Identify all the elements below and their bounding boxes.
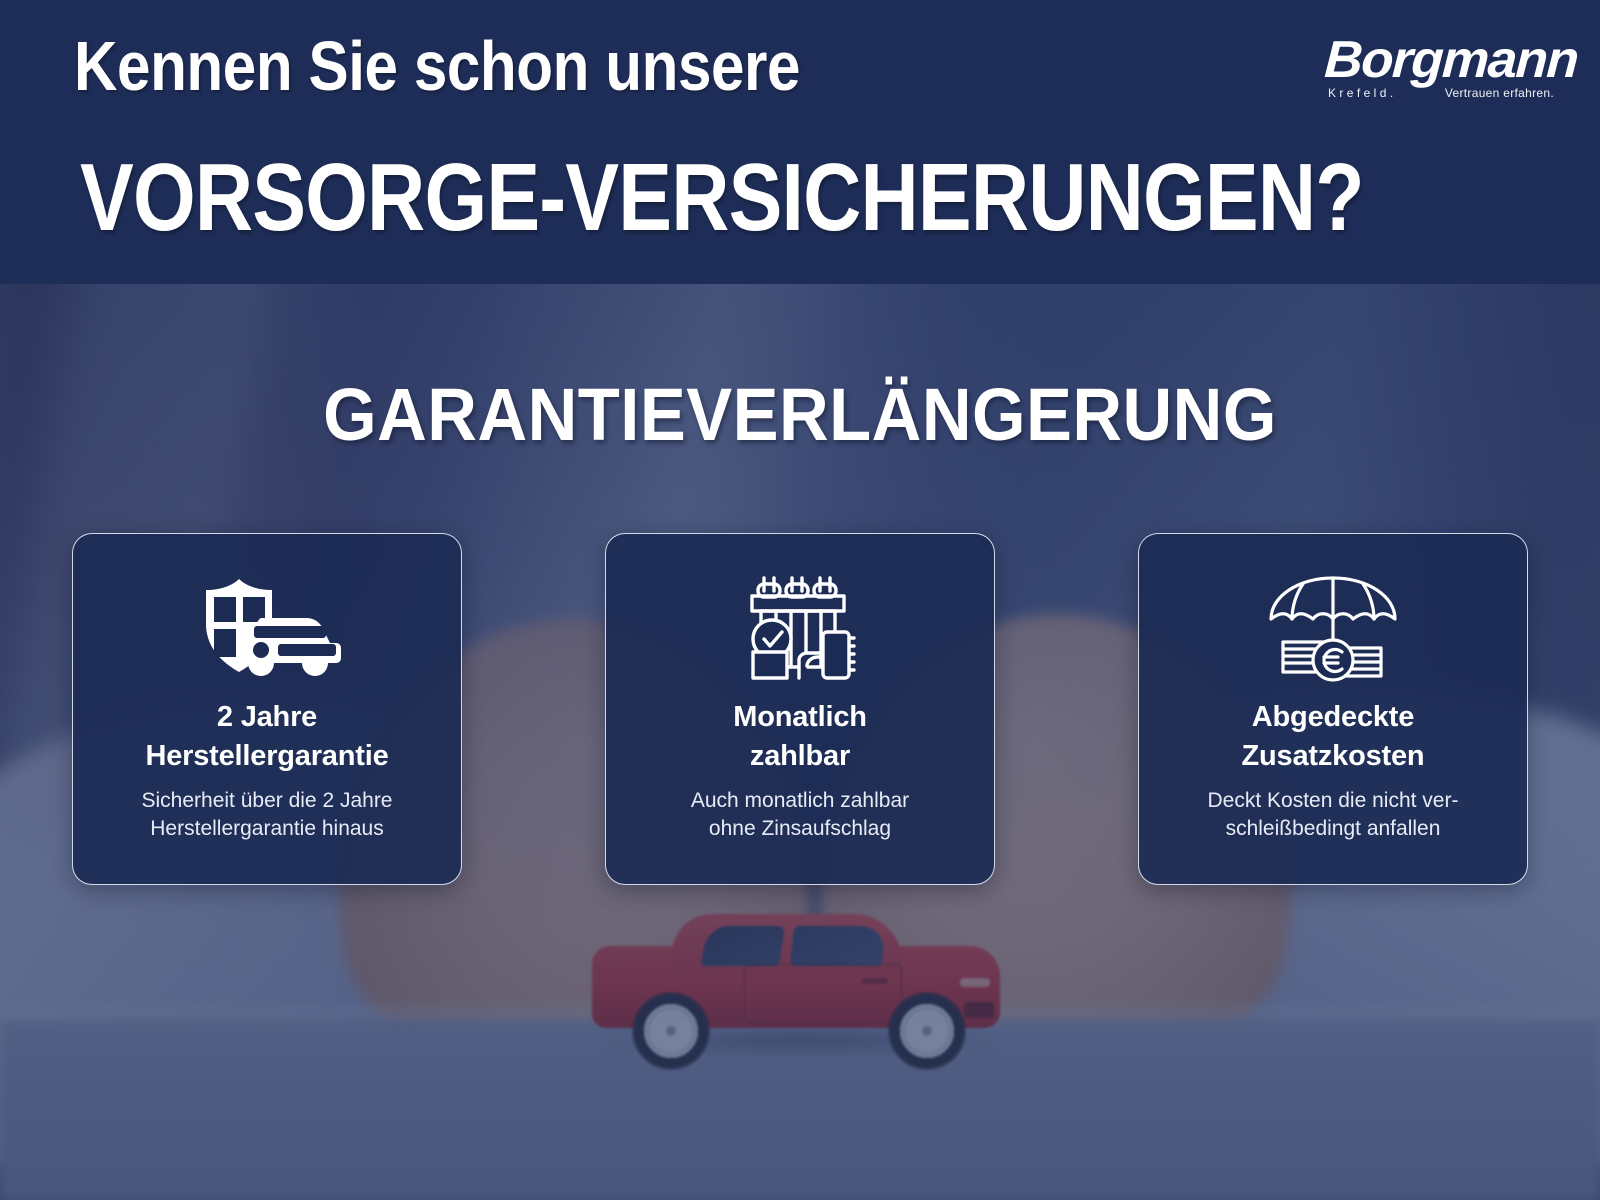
- logo-wordmark: Borgmann: [1323, 34, 1579, 86]
- card-title: Monatlich zahlbar: [733, 698, 867, 776]
- logo-city: Krefeld.: [1328, 86, 1397, 100]
- feature-card-extra-costs[interactable]: Abgedeckte Zusatzkosten Deckt Kosten die…: [1138, 533, 1528, 885]
- umbrella-euro-coins-icon: [1265, 572, 1401, 684]
- card-title: 2 Jahre Herstellergarantie: [145, 698, 388, 776]
- section-title: GARANTIEVERLÄNGERUNG: [56, 378, 1544, 452]
- calendar-check-payment-icon: [739, 572, 861, 684]
- logo-claim: Vertrauen erfahren.: [1445, 86, 1554, 100]
- card-description: Sicherheit über die 2 Jahre Herstellerga…: [142, 787, 393, 843]
- card-desc-line-1: Sicherheit über die 2 Jahre: [142, 789, 393, 812]
- feature-card-manufacturer-warranty[interactable]: 2 Jahre Herstellergarantie Sicherheit üb…: [72, 533, 462, 885]
- card-title-line-1: Monatlich: [733, 701, 867, 733]
- card-description: Auch monatlich zahlbar ohne Zinsaufschla…: [691, 787, 909, 843]
- borgmann-logo[interactable]: Borgmann Krefeld. Vertrauen erfahren.: [1326, 34, 1556, 108]
- feature-card-monthly-payment[interactable]: Monatlich zahlbar Auch monatlich zahlbar…: [605, 533, 995, 885]
- card-title-line-2: Zusatzkosten: [1242, 740, 1425, 772]
- card-desc-line-2: ohne Zinsaufschlag: [709, 817, 891, 840]
- card-title: Abgedeckte Zusatzkosten: [1242, 698, 1425, 776]
- card-desc-line-2: Herstellergarantie hinaus: [150, 817, 383, 840]
- card-desc-line-1: Auch monatlich zahlbar: [691, 789, 909, 812]
- shield-car-icon: [192, 572, 342, 684]
- card-description: Deckt Kosten die nicht ver- schleißbedin…: [1208, 787, 1459, 843]
- card-title-line-2: zahlbar: [750, 740, 850, 772]
- card-desc-line-2: schleißbedingt anfallen: [1226, 817, 1441, 840]
- feature-card-list: 2 Jahre Herstellergarantie Sicherheit üb…: [72, 533, 1528, 885]
- headline-line-1: Kennen Sie schon unsere: [74, 31, 800, 101]
- logo-subline: Krefeld. Vertrauen erfahren.: [1328, 86, 1554, 100]
- promo-banner: Kennen Sie schon unsere VORSORGE-VERSICH…: [0, 0, 1600, 1200]
- card-desc-line-1: Deckt Kosten die nicht ver-: [1208, 789, 1459, 812]
- headline-line-2: VORSORGE-VERSICHERUNGEN?: [80, 150, 1364, 246]
- card-title-line-1: Abgedeckte: [1252, 701, 1414, 733]
- card-title-line-1: 2 Jahre: [217, 701, 317, 733]
- card-title-line-2: Herstellergarantie: [145, 740, 388, 772]
